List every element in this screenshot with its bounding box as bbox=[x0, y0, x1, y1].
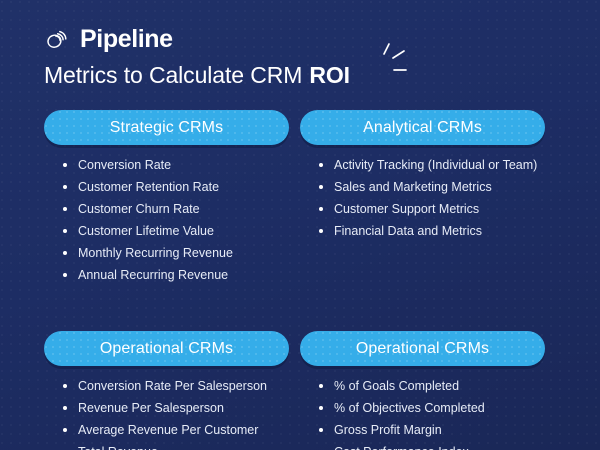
list-item: % of Objectives Completed bbox=[318, 402, 580, 415]
page-title-prefix: Metrics to Calculate CRM bbox=[44, 62, 302, 89]
card-header-pill[interactable]: Operational CRMs bbox=[44, 331, 289, 366]
list-item: Monthly Recurring Revenue bbox=[62, 247, 300, 260]
card-header-pill[interactable]: Analytical CRMs bbox=[300, 110, 545, 145]
sparkle-icon bbox=[375, 41, 417, 85]
page-title-accent: ROI bbox=[309, 62, 350, 89]
card-title: Analytical CRMs bbox=[363, 120, 482, 136]
list-item: Sales and Marketing Metrics bbox=[318, 181, 580, 194]
list-item: Financial Data and Metrics bbox=[318, 225, 580, 238]
card-operational-crms-left: Operational CRMs Conversion Rate Per Sal… bbox=[20, 331, 300, 450]
card-title: Operational CRMs bbox=[100, 341, 233, 357]
card-title: Strategic CRMs bbox=[110, 120, 223, 136]
list-item: Revenue Per Salesperson bbox=[62, 402, 300, 415]
list-item: Conversion Rate Per Salesperson bbox=[62, 380, 300, 393]
list-item: Activity Tracking (Individual or Team) bbox=[318, 159, 580, 172]
list-item: Conversion Rate bbox=[62, 159, 300, 172]
list-item: Average Revenue Per Customer bbox=[62, 424, 300, 437]
header: Pipeline Metrics to Calculate CRM ROI bbox=[44, 26, 350, 89]
infographic-canvas: Pipeline Metrics to Calculate CRM ROI St… bbox=[0, 0, 600, 450]
card-analytical-crms: Analytical CRMs Activity Tracking (Indiv… bbox=[300, 110, 580, 291]
card-title: Operational CRMs bbox=[356, 341, 489, 357]
brand-logo: Pipeline bbox=[44, 26, 350, 53]
cards-grid: Strategic CRMs Conversion Rate Customer … bbox=[0, 110, 600, 450]
card-strategic-crms: Strategic CRMs Conversion Rate Customer … bbox=[20, 110, 300, 291]
list-item: % of Goals Completed bbox=[318, 380, 580, 393]
card-operational-crms-right: Operational CRMs % of Goals Completed % … bbox=[300, 331, 580, 450]
list-item: Total Revenue bbox=[62, 446, 300, 450]
list-item: Cost Performance Index bbox=[318, 446, 580, 450]
pipeline-spiral-icon bbox=[44, 26, 71, 53]
metric-list: Conversion Rate Per Salesperson Revenue … bbox=[20, 380, 300, 450]
metric-list: Activity Tracking (Individual or Team) S… bbox=[300, 159, 580, 238]
metric-list: % of Goals Completed % of Objectives Com… bbox=[300, 380, 580, 450]
list-item: Customer Churn Rate bbox=[62, 203, 300, 216]
brand-name: Pipeline bbox=[80, 27, 173, 52]
metric-list: Conversion Rate Customer Retention Rate … bbox=[20, 159, 300, 282]
list-item: Annual Recurring Revenue bbox=[62, 269, 300, 282]
list-item: Customer Retention Rate bbox=[62, 181, 300, 194]
list-item: Customer Lifetime Value bbox=[62, 225, 300, 238]
card-header-pill[interactable]: Strategic CRMs bbox=[44, 110, 289, 145]
list-item: Customer Support Metrics bbox=[318, 203, 580, 216]
page-title: Metrics to Calculate CRM ROI bbox=[44, 62, 350, 89]
list-item: Gross Profit Margin bbox=[318, 424, 580, 437]
card-header-pill[interactable]: Operational CRMs bbox=[300, 331, 545, 366]
